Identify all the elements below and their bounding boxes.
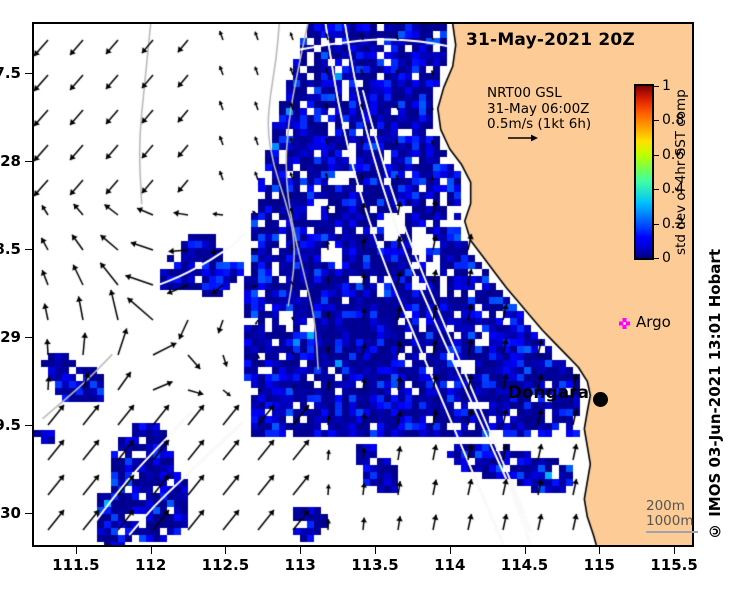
colorbar-tick [654,258,659,259]
figure-root: 31-May-2021 20Z NRT00 GSL 31-May 06:00Z … [0,0,739,592]
x-axis-tick [76,547,77,554]
y-axis-tick [25,161,32,162]
y-axis-tick-label: -30 [0,504,21,522]
colorbar[interactable]: 10.80.60.40.20 [634,84,654,260]
argo-label: Argo [636,313,671,331]
annotation-line-1: NRT00 GSL [487,86,591,102]
x-axis-tick [300,547,301,554]
y-axis-tick [25,337,32,338]
y-axis-tick [25,425,32,426]
x-axis-tick [151,547,152,554]
depth-200m-label: 200m [646,499,694,514]
x-axis-tick [599,547,600,554]
x-axis-tick-label: 114 [434,556,465,574]
colorbar-gradient [634,84,654,260]
map-plot-area[interactable] [32,22,694,547]
vector-scale-arrow-icon [508,133,538,143]
y-axis-tick-label: -27.5 [0,64,21,82]
x-axis-tick-label: 115 [584,556,615,574]
x-axis-tick [674,547,675,554]
colorbar-tick [654,86,659,87]
imos-credit: © IMOS 03-Jun-2021 13:01 Hobart [706,290,724,540]
y-axis-tick-label: -28.5 [0,240,21,258]
y-axis-tick [25,249,32,250]
x-axis-tick-label: 112.5 [202,556,249,574]
depth-1000m-label: 1000m [646,514,694,529]
y-axis-tick [25,73,32,74]
x-axis-tick [225,547,226,554]
annotation-line-3: 0.5m/s (1kt 6h) [487,117,591,133]
dongara-city-marker-icon[interactable] [593,392,608,407]
annotation-line-2: 31-May 06:00Z [487,102,591,118]
y-axis-tick [25,513,32,514]
x-axis-tick [375,547,376,554]
colorbar-tick [654,120,659,121]
y-axis-tick-label: -28 [0,152,21,170]
bathymetry-legend-line [646,531,698,533]
x-axis-tick [525,547,526,554]
x-axis-tick-label: 111.5 [52,556,99,574]
x-axis-tick [450,547,451,554]
map-title: 31-May-2021 20Z [466,30,635,50]
x-axis-tick-label: 113 [285,556,316,574]
x-axis-tick-label: 112 [135,556,166,574]
model-annotation: NRT00 GSL 31-May 06:00Z 0.5m/s (1kt 6h) [487,86,591,133]
dongara-label: Dongara [449,383,589,403]
y-axis-tick-label: -29.5 [0,416,21,434]
colorbar-tick [654,155,659,156]
colorbar-tick-label: 1 [662,78,671,94]
colorbar-title: std dev of 4hr SST comp [672,86,690,258]
x-axis-tick-label: 115.5 [650,556,697,574]
x-axis-tick-label: 113.5 [351,556,398,574]
bathymetry-legend: 200m 1000m [646,499,694,529]
colorbar-tick [654,224,659,225]
colorbar-tick-label: 0 [662,250,671,266]
map-raster-canvas[interactable] [34,24,692,545]
argo-float-marker-icon[interactable] [619,318,630,329]
colorbar-tick [654,189,659,190]
x-axis-tick-label: 114.5 [501,556,548,574]
y-axis-tick-label: -29 [0,328,21,346]
